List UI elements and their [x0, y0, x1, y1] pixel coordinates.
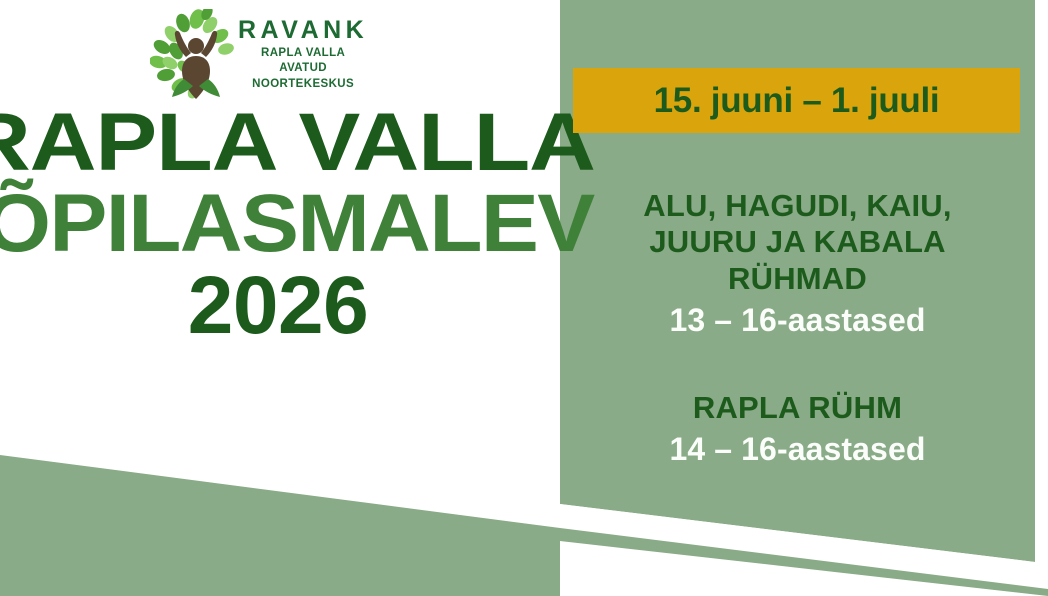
logo-name: RAVANK	[238, 18, 368, 43]
bottom-right-white-notch	[560, 541, 1048, 596]
logo-wordmark: RAVANK RAPLA VALLA AVATUD NOORTEKESKUS	[238, 18, 368, 93]
group-heading-line: RAPLA RÜHM	[560, 390, 1035, 426]
diagonal-band	[0, 530, 1048, 596]
headline-line-2: ÕPILASMALEV	[0, 189, 573, 260]
bottom-left-green-wedge	[0, 455, 560, 596]
panel-band-gap	[560, 504, 1048, 572]
group-heading-line: JUURU JA KABALA	[560, 224, 1035, 260]
page-title: RAPLA VALLA ÕPILASMALEV 2026	[0, 108, 556, 342]
group-heading-line: ALU, HAGUDI, KAIU,	[560, 188, 1035, 224]
lower-diagonal-green-band	[0, 530, 1048, 596]
white-gap-wedge	[560, 510, 1048, 596]
group-heading-line: RÜHMAD	[560, 261, 1035, 297]
date-banner-text: 15. juuni – 1. juuli	[654, 81, 940, 121]
white-gap-wedge-2	[118, 452, 1048, 596]
group-block-villages: ALU, HAGUDI, KAIU, JUURU JA KABALA RÜHMA…	[560, 188, 1035, 338]
group-block-rapla: RAPLA RÜHM 14 – 16-aastased	[560, 390, 1035, 467]
group-age-range: 13 – 16-aastased	[560, 303, 1035, 338]
headline-year: 2026	[0, 271, 556, 342]
date-banner: 15. juuni – 1. juuli	[573, 68, 1020, 133]
tree-person-leaves-icon	[150, 9, 236, 101]
headline-line-1: RAPLA VALLA	[0, 108, 592, 179]
group-age-range: 14 – 16-aastased	[560, 432, 1035, 467]
left-wedge	[0, 455, 560, 596]
poster-canvas: RAVANK RAPLA VALLA AVATUD NOORTEKESKUS R…	[0, 0, 1048, 596]
diagonal-band-right	[560, 528, 1048, 596]
ravank-logo: RAVANK RAPLA VALLA AVATUD NOORTEKESKUS	[150, 6, 360, 104]
logo-subtitle-line-2: NOORTEKESKUS	[238, 77, 368, 93]
logo-subtitle-line-1: RAPLA VALLA AVATUD	[238, 46, 368, 77]
groups-info-panel: ALU, HAGUDI, KAIU, JUURU JA KABALA RÜHMA…	[560, 188, 1035, 467]
